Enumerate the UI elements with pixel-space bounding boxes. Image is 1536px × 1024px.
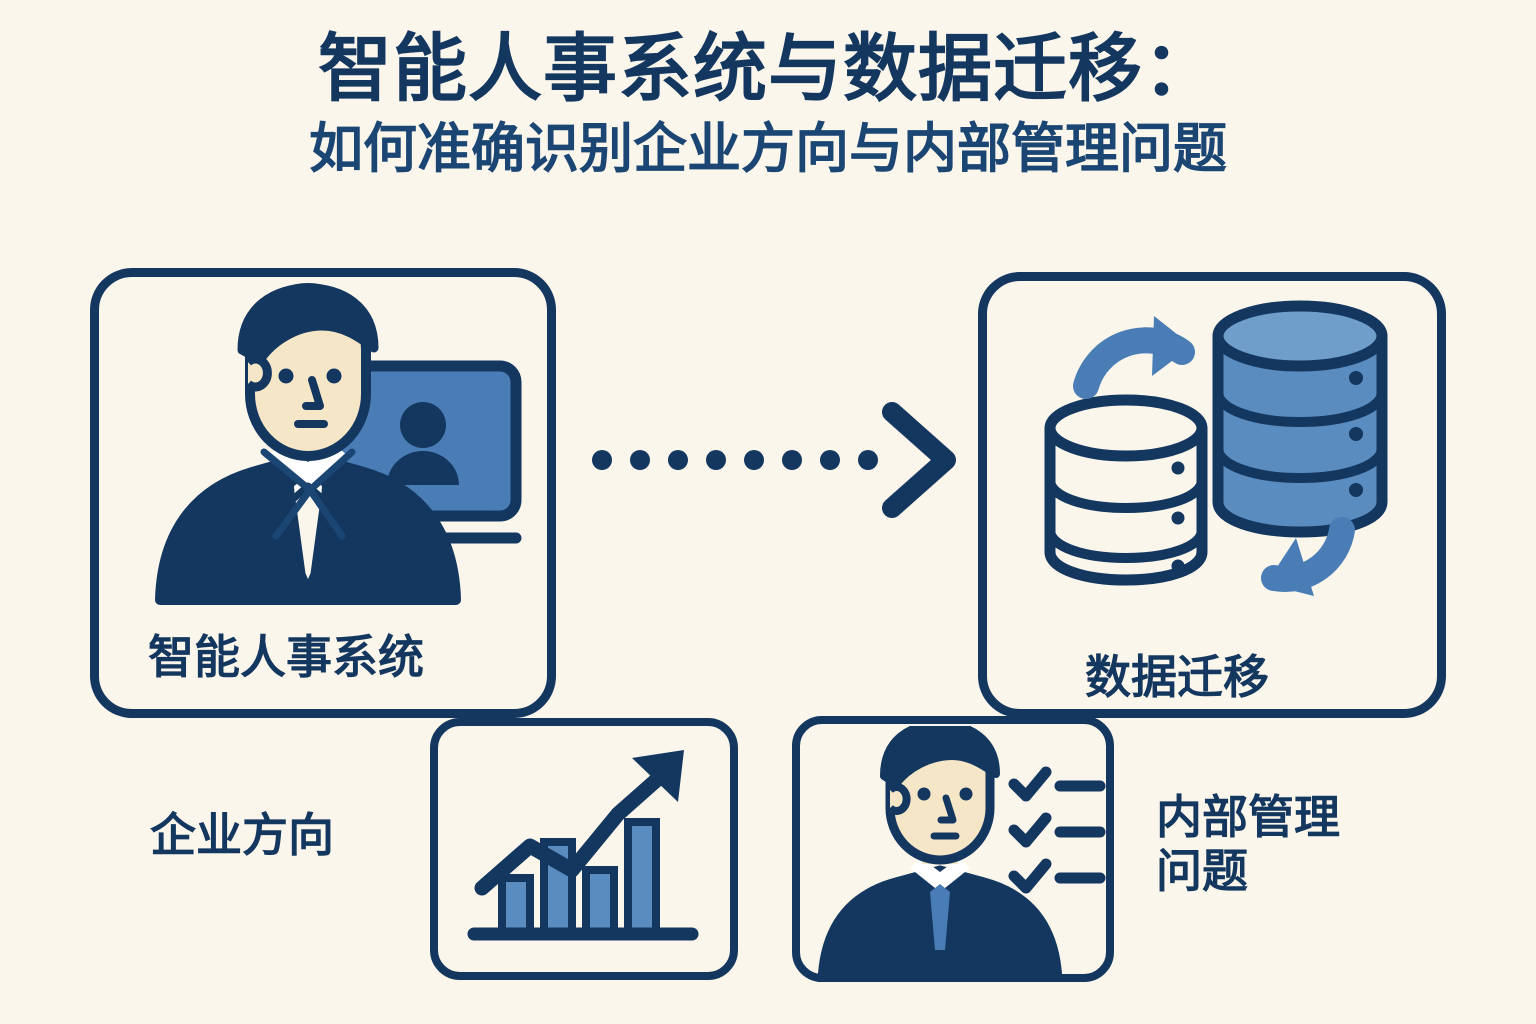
card-hr-system-label: 智能人事系统 [148,630,424,684]
database-sync-icon [1010,282,1420,632]
card-internal-management-label: 内部管理 问题 [1156,790,1340,899]
card-data-migration-label: 数据迁移 [1085,650,1269,704]
card-enterprise-direction-label: 企业方向 [150,808,334,862]
card-internal-management-label-line1: 内部管理 [1156,790,1340,844]
growth-chart-icon [446,730,726,968]
arrow-right-icon [586,400,966,520]
person-checklist-icon [806,726,1106,982]
page-title: 智能人事系统与数据迁移： [0,30,1536,108]
businessman-with-monitor-icon [108,280,538,610]
title-block: 智能人事系统与数据迁移： 如何准确识别企业方向与内部管理问题 [0,30,1536,179]
infographic-canvas: 智能人事系统与数据迁移： 如何准确识别企业方向与内部管理问题 [0,0,1536,1024]
page-subtitle: 如何准确识别企业方向与内部管理问题 [0,120,1536,179]
card-internal-management-label-line2: 问题 [1156,844,1340,898]
